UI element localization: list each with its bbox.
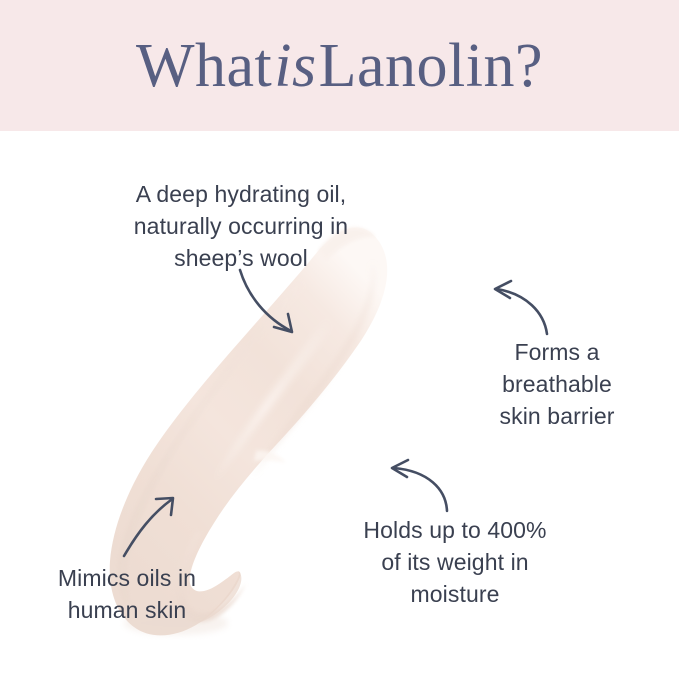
callout-mimics-line-2: human skin — [22, 594, 232, 626]
curved-arrow-up-left-barrier-icon — [495, 281, 547, 334]
callout-hydrating-line-3: sheep’s wool — [96, 242, 386, 274]
callout-moisture: Holds up to 400% of its weight in moistu… — [330, 514, 580, 610]
infographic-canvas: What is Lanolin? — [0, 0, 679, 679]
callout-barrier: Forms a breathable skin barrier — [472, 336, 642, 432]
callout-hydrating: A deep hydrating oil, naturally occurrin… — [96, 178, 386, 274]
cream-swatch-right-shadow — [252, 261, 374, 477]
callout-mimics: Mimics oils in human skin — [22, 562, 232, 626]
callout-barrier-line-2: breathable — [472, 368, 642, 400]
page-title: What is Lanolin? — [0, 0, 679, 131]
callout-barrier-line-3: skin barrier — [472, 400, 642, 432]
callout-moisture-line-2: of its weight in — [330, 546, 580, 578]
callout-moisture-line-1: Holds up to 400% — [330, 514, 580, 546]
curved-arrow-up-left-moisture-icon — [392, 460, 447, 511]
curved-arrow-down-right-icon — [240, 270, 292, 332]
page-title-pre: What — [136, 35, 272, 97]
callout-moisture-line-3: moisture — [330, 578, 580, 610]
callout-mimics-line-1: Mimics oils in — [22, 562, 232, 594]
page-title-post: Lanolin? — [319, 35, 543, 97]
callout-hydrating-line-1: A deep hydrating oil, — [96, 178, 386, 210]
cream-swatch-ridge — [254, 451, 286, 463]
callout-barrier-line-1: Forms a — [472, 336, 642, 368]
page-title-emphasis: is — [272, 35, 318, 97]
cream-swatch-sheen — [182, 281, 360, 543]
callout-hydrating-line-2: naturally occurring in — [96, 210, 386, 242]
curved-arrow-up-right-icon — [124, 498, 173, 556]
